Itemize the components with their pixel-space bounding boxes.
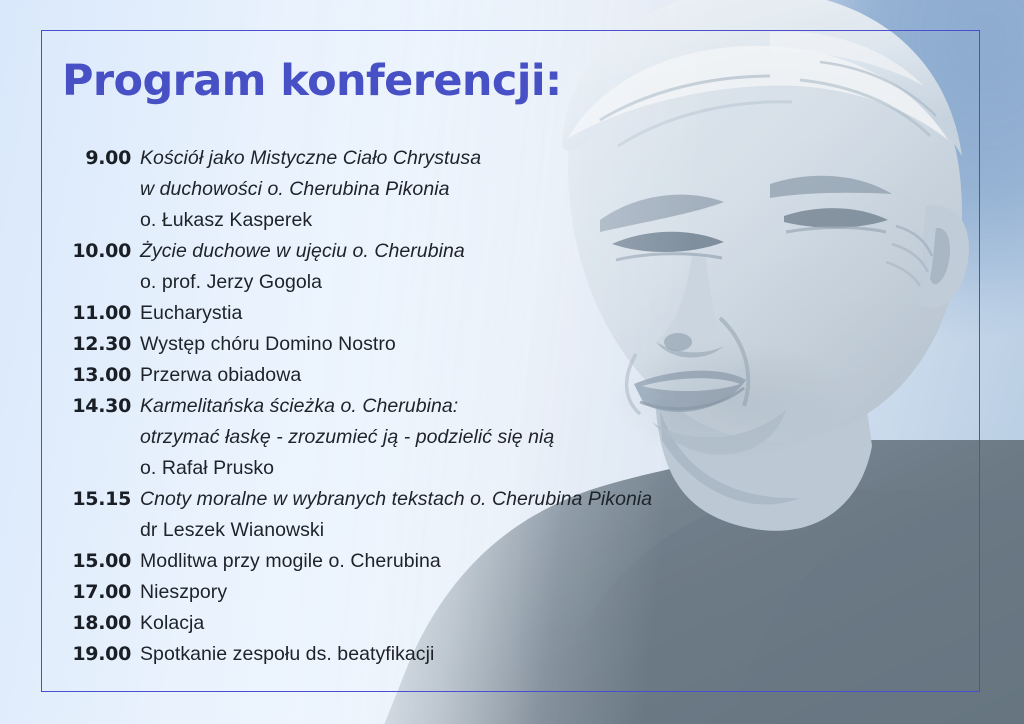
schedule-time: 14.30 bbox=[0, 391, 131, 422]
schedule-description: Życie duchowe w ujęciu o. Cherubinao. pr… bbox=[131, 236, 940, 298]
schedule-row: 19.00Spotkanie zespołu ds. beatyfikacji bbox=[0, 639, 940, 670]
schedule-speaker-name: Nieszpory bbox=[140, 577, 940, 608]
poster-content: Program konferencji: 9.00Kościół jako Mi… bbox=[0, 0, 1024, 724]
schedule-speaker-name: o. Łukasz Kasperek bbox=[140, 205, 940, 236]
schedule-speaker-name: Występ chóru Domino Nostro bbox=[140, 329, 940, 360]
schedule-description: Cnoty moralne w wybranych tekstach o. Ch… bbox=[131, 484, 940, 546]
schedule-row: 10.00Życie duchowe w ujęciu o. Cherubina… bbox=[0, 236, 940, 298]
schedule-row: 15.15Cnoty moralne w wybranych tekstach … bbox=[0, 484, 940, 546]
schedule-speaker-name: Eucharystia bbox=[140, 298, 940, 329]
schedule-description: Spotkanie zespołu ds. beatyfikacji bbox=[131, 639, 940, 670]
schedule-description: Modlitwa przy mogile o. Cherubina bbox=[131, 546, 940, 577]
schedule-row: 13.00Przerwa obiadowa bbox=[0, 360, 940, 391]
schedule-description: Kolacja bbox=[131, 608, 940, 639]
schedule-description: Karmelitańska ścieżka o. Cherubina:otrzy… bbox=[131, 391, 940, 484]
schedule-talk-title: Cnoty moralne w wybranych tekstach o. Ch… bbox=[140, 484, 940, 515]
page-title: Program konferencji: bbox=[62, 56, 562, 106]
conference-program-poster: Program konferencji: 9.00Kościół jako Mi… bbox=[0, 0, 1024, 724]
schedule-description: Występ chóru Domino Nostro bbox=[131, 329, 940, 360]
schedule-description: Eucharystia bbox=[131, 298, 940, 329]
schedule-row: 11.00Eucharystia bbox=[0, 298, 940, 329]
schedule-talk-title: otrzymać łaskę - zrozumieć ją - podzieli… bbox=[140, 422, 940, 453]
schedule-time: 11.00 bbox=[0, 298, 131, 329]
schedule-row: 17.00Nieszpory bbox=[0, 577, 940, 608]
schedule-row: 14.30Karmelitańska ścieżka o. Cherubina:… bbox=[0, 391, 940, 484]
schedule-list: 9.00Kościół jako Mistyczne Ciało Chrystu… bbox=[0, 143, 940, 670]
schedule-description: Nieszpory bbox=[131, 577, 940, 608]
schedule-talk-title: w duchowości o. Cherubina Pikonia bbox=[140, 174, 940, 205]
schedule-time: 15.00 bbox=[0, 546, 131, 577]
schedule-time: 10.00 bbox=[0, 236, 131, 267]
schedule-talk-title: Karmelitańska ścieżka o. Cherubina: bbox=[140, 391, 940, 422]
schedule-time: 17.00 bbox=[0, 577, 131, 608]
schedule-time: 13.00 bbox=[0, 360, 131, 391]
schedule-talk-title: Kościół jako Mistyczne Ciało Chrystusa bbox=[140, 143, 940, 174]
schedule-description: Przerwa obiadowa bbox=[131, 360, 940, 391]
schedule-row: 9.00Kościół jako Mistyczne Ciało Chrystu… bbox=[0, 143, 940, 236]
schedule-time: 12.30 bbox=[0, 329, 131, 360]
schedule-time: 9.00 bbox=[0, 143, 131, 174]
schedule-talk-title: Życie duchowe w ujęciu o. Cherubina bbox=[140, 236, 940, 267]
schedule-row: 15.00Modlitwa przy mogile o. Cherubina bbox=[0, 546, 940, 577]
schedule-speaker-name: dr Leszek Wianowski bbox=[140, 515, 940, 546]
schedule-row: 18.00Kolacja bbox=[0, 608, 940, 639]
schedule-row: 12.30Występ chóru Domino Nostro bbox=[0, 329, 940, 360]
schedule-time: 15.15 bbox=[0, 484, 131, 515]
schedule-description: Kościół jako Mistyczne Ciało Chrystusaw … bbox=[131, 143, 940, 236]
schedule-speaker-name: Przerwa obiadowa bbox=[140, 360, 940, 391]
schedule-time: 18.00 bbox=[0, 608, 131, 639]
schedule-speaker-name: Kolacja bbox=[140, 608, 940, 639]
schedule-time: 19.00 bbox=[0, 639, 131, 670]
schedule-speaker-name: o. prof. Jerzy Gogola bbox=[140, 267, 940, 298]
schedule-speaker-name: Modlitwa przy mogile o. Cherubina bbox=[140, 546, 940, 577]
schedule-speaker-name: Spotkanie zespołu ds. beatyfikacji bbox=[140, 639, 940, 670]
schedule-speaker-name: o. Rafał Prusko bbox=[140, 453, 940, 484]
